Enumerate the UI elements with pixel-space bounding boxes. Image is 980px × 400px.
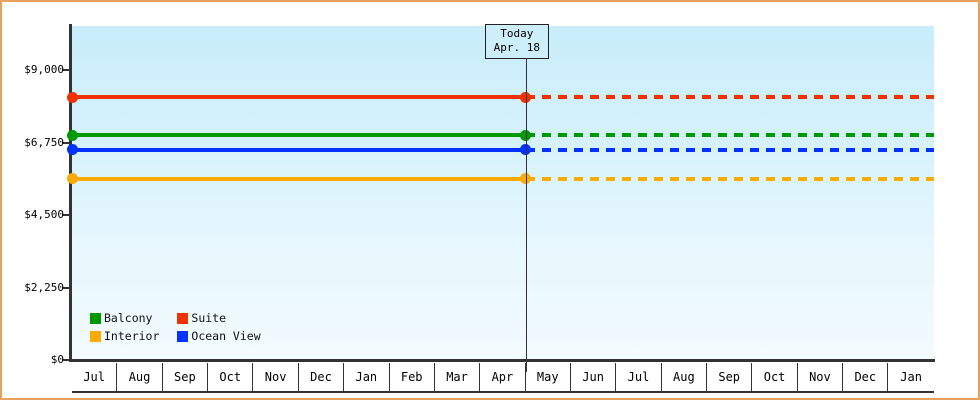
today-marker-line bbox=[526, 58, 527, 372]
legend-item[interactable]: Suite bbox=[177, 311, 260, 325]
x-axis-month-cell[interactable]: Mar bbox=[435, 363, 480, 393]
x-axis-month-label: Oct bbox=[764, 370, 786, 384]
x-axis-month-label: Sep bbox=[718, 370, 740, 384]
y-axis-tick-label: $2,250 bbox=[2, 281, 64, 294]
x-axis-month-cell[interactable]: Dec bbox=[843, 363, 888, 393]
x-axis-month-label: Dec bbox=[854, 370, 876, 384]
series-line-forecast bbox=[526, 177, 934, 181]
series-line-historical bbox=[72, 133, 526, 137]
x-axis-month-cell[interactable]: Sep bbox=[163, 363, 208, 393]
legend-item-label: Ocean View bbox=[191, 329, 260, 343]
x-axis-month-label: Feb bbox=[401, 370, 423, 384]
y-axis-tick-label: $0 bbox=[2, 353, 64, 366]
x-axis-month-label: Jul bbox=[83, 370, 105, 384]
legend-item-label: Interior bbox=[104, 329, 159, 343]
x-axis-month-label: Jan bbox=[355, 370, 377, 384]
x-axis-month-cell[interactable]: Sep bbox=[707, 363, 752, 393]
x-axis-month-cell[interactable]: Jul bbox=[72, 363, 117, 393]
series-line-historical bbox=[72, 177, 526, 181]
x-axis-month-label: Jul bbox=[628, 370, 650, 384]
x-axis-month-label: Jan bbox=[900, 370, 922, 384]
legend-color-swatch bbox=[90, 313, 101, 324]
series-marker-start[interactable] bbox=[67, 92, 78, 103]
x-axis-month-cell[interactable]: Nov bbox=[253, 363, 298, 393]
x-axis-month-label: Mar bbox=[446, 370, 468, 384]
series-line-historical bbox=[72, 148, 526, 152]
x-axis-month-cell[interactable]: Dec bbox=[299, 363, 344, 393]
legend-item[interactable]: Balcony bbox=[90, 311, 159, 325]
x-axis-month-cell[interactable]: May bbox=[526, 363, 571, 393]
legend-color-swatch bbox=[177, 313, 188, 324]
series-line-forecast bbox=[526, 95, 934, 99]
x-axis-month-cell[interactable]: Oct bbox=[208, 363, 253, 393]
y-axis-tick-label: $6,750 bbox=[2, 136, 64, 149]
x-axis-labels: JulAugSepOctNovDecJanFebMarAprMayJunJulA… bbox=[72, 363, 934, 393]
legend-item[interactable]: Interior bbox=[90, 329, 159, 343]
series-line-forecast bbox=[526, 133, 934, 137]
series-line-forecast bbox=[526, 148, 934, 152]
series-line-historical bbox=[72, 95, 526, 99]
x-axis-spine bbox=[69, 359, 935, 362]
x-axis-month-label: May bbox=[537, 370, 559, 384]
y-axis-tick-label: $9,000 bbox=[2, 63, 64, 76]
y-axis-spine bbox=[69, 24, 72, 362]
x-axis-month-cell[interactable]: Aug bbox=[662, 363, 707, 393]
x-axis-month-cell[interactable]: Oct bbox=[752, 363, 797, 393]
legend-item[interactable]: Ocean View bbox=[177, 329, 260, 343]
x-axis-month-label: Aug bbox=[673, 370, 695, 384]
x-axis-month-cell[interactable]: Jul bbox=[616, 363, 661, 393]
x-axis-month-cell[interactable]: Aug bbox=[117, 363, 162, 393]
x-axis-month-label: Oct bbox=[219, 370, 241, 384]
x-axis-month-cell[interactable]: Jun bbox=[571, 363, 616, 393]
legend-item-label: Balcony bbox=[104, 311, 152, 325]
x-axis-month-cell[interactable]: Jan bbox=[344, 363, 389, 393]
y-axis-tick-label: $4,500 bbox=[2, 208, 64, 221]
today-label-line2: Apr. 18 bbox=[494, 41, 540, 55]
x-axis-month-label: Nov bbox=[265, 370, 287, 384]
x-axis-month-cell[interactable]: Feb bbox=[390, 363, 435, 393]
legend-item-label: Suite bbox=[191, 311, 226, 325]
legend-color-swatch bbox=[90, 331, 101, 342]
series-marker-start[interactable] bbox=[67, 130, 78, 141]
today-marker-label: Today Apr. 18 bbox=[485, 24, 549, 59]
x-axis-month-label: Apr bbox=[492, 370, 514, 384]
legend-color-swatch bbox=[177, 331, 188, 342]
chart-legend: BalconySuiteInteriorOcean View bbox=[90, 311, 261, 343]
chart-frame: $9,000$6,750$4,500$2,250$0 Today Apr. 18… bbox=[0, 0, 980, 400]
x-axis-month-cell[interactable]: Apr bbox=[480, 363, 525, 393]
x-axis-month-label: Nov bbox=[809, 370, 831, 384]
x-axis-month-cell[interactable]: Nov bbox=[798, 363, 843, 393]
plot-area bbox=[72, 26, 934, 360]
x-axis-month-label: Sep bbox=[174, 370, 196, 384]
x-axis-month-label: Jun bbox=[582, 370, 604, 384]
x-axis-month-cell[interactable]: Jan bbox=[888, 363, 933, 393]
x-axis-month-label: Aug bbox=[129, 370, 151, 384]
today-label-line1: Today bbox=[494, 27, 540, 41]
x-axis-month-label: Dec bbox=[310, 370, 332, 384]
